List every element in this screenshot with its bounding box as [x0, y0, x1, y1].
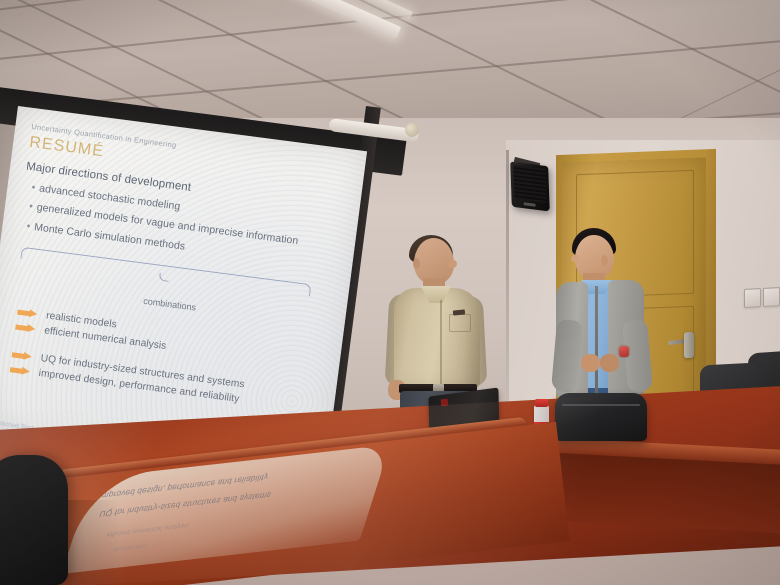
bullet-marker-icon: • [31, 181, 36, 193]
right-hand [600, 354, 619, 372]
laptop-logo-icon [441, 399, 449, 407]
nose [571, 255, 579, 262]
water-bottle-cap [535, 399, 548, 407]
nose [449, 260, 457, 268]
khaki-shirt [394, 288, 480, 388]
arrow-right-icon [9, 365, 32, 377]
ear [413, 258, 420, 269]
light-switch[interactable] [763, 287, 780, 307]
ear [601, 255, 608, 266]
light-switch[interactable] [744, 288, 761, 308]
arrow-right-icon [15, 322, 38, 334]
wall-corner [506, 150, 509, 440]
arrow-right-icon [17, 307, 40, 319]
office-chair-foreground [0, 455, 68, 585]
light-switch-panel[interactable] [744, 287, 780, 308]
speaker-logo [524, 202, 536, 206]
left-hand [581, 354, 600, 372]
photo-scene: Uncertainty Quantification in Engineerin… [0, 0, 780, 585]
bullet-marker-icon: • [26, 220, 31, 232]
door-handle-icon[interactable] [684, 332, 694, 358]
wall-speaker-icon [510, 162, 550, 212]
speaker-grille [513, 165, 546, 203]
jacket-zipper [595, 286, 598, 398]
shirt-placket [440, 300, 442, 384]
arrow-right-icon [11, 350, 34, 362]
shirt-pocket [449, 314, 471, 332]
backpack-seam [562, 404, 640, 406]
brace-pointer [159, 272, 170, 281]
backpack [555, 393, 647, 441]
bullet-marker-icon: • [28, 200, 33, 212]
wristwatch [619, 346, 629, 357]
